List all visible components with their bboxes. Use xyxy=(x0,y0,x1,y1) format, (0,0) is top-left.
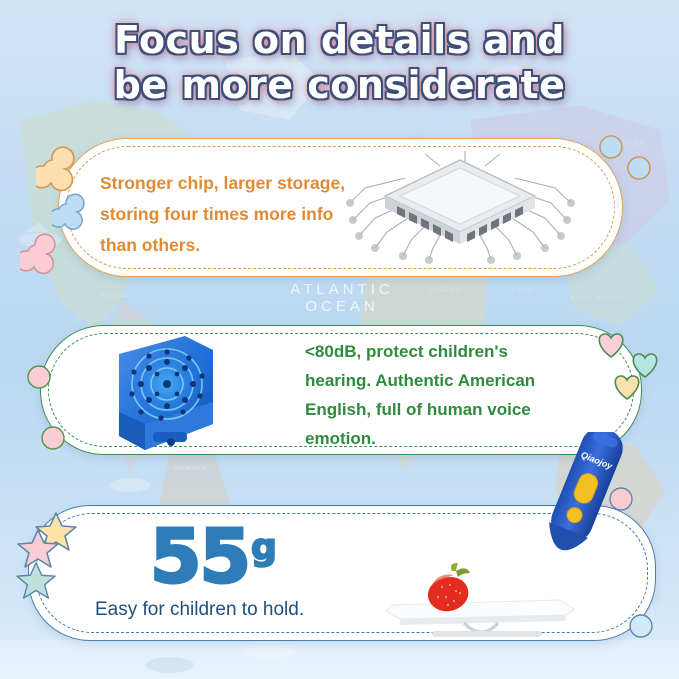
promo-infographic: MEXICO P ALGERIA LIBYA SAUDI ARABIA NAMI… xyxy=(0,0,679,679)
weight-value-display: 55 g xyxy=(150,520,277,594)
cloud-pink-decoration xyxy=(20,232,74,285)
page-title-line-2: be more considerate xyxy=(0,63,679,108)
circle-pink-decoration-2 xyxy=(40,425,66,456)
svg-text:SAUDI ARABIA: SAUDI ARABIA xyxy=(570,296,624,302)
page-title-line-1: Focus on details and xyxy=(0,18,679,63)
svg-text:MEXICO: MEXICO xyxy=(100,293,130,299)
heart-yellow-decoration xyxy=(610,370,644,407)
star-teal-decoration xyxy=(15,560,57,605)
weight-number: 55 xyxy=(150,520,249,594)
speaker-module-icon xyxy=(105,332,225,457)
weight-unit: g xyxy=(251,530,277,566)
circle-blue-decoration-1 xyxy=(598,134,624,165)
page-title: Focus on details and be more considerate xyxy=(0,18,679,108)
circle-pink-decoration-1 xyxy=(26,364,52,395)
svg-text:ALGERIA: ALGERIA xyxy=(430,288,463,294)
map-ocean-label: ATLANTIC OCEAN xyxy=(252,281,432,315)
svg-text:NAMIBIA: NAMIBIA xyxy=(175,466,207,472)
feature-card-weight-text: Easy for children to hold. xyxy=(95,598,304,622)
feature-card-chip-text: Stronger chip, larger storage, storing f… xyxy=(100,168,350,261)
microchip-icon xyxy=(345,148,575,273)
reading-pen-product: Qiaojoy xyxy=(520,432,640,567)
svg-text:LIBYA: LIBYA xyxy=(512,288,534,294)
heart-pink-decoration xyxy=(594,328,628,365)
circle-blue-decoration-2 xyxy=(626,155,652,186)
circle-blue-decoration-3 xyxy=(628,613,654,644)
